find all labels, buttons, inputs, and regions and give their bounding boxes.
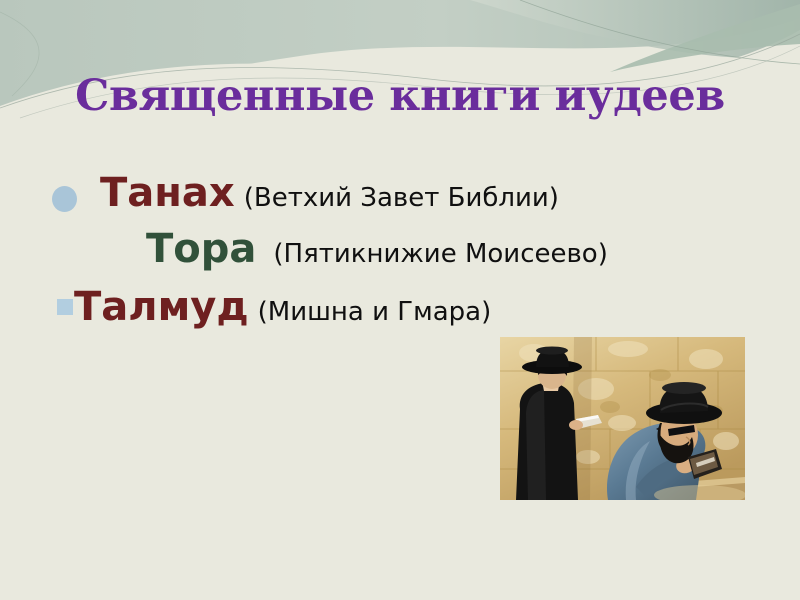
swoosh-hairline-3 [520, 0, 800, 64]
bullet-keyword-talmud: Талмуд [74, 284, 249, 330]
bullet-item-torah: Тора(Пятикнижие Моисеево) [0, 226, 800, 284]
western-wall-photo [500, 337, 745, 500]
bullet-note-torah: (Пятикнижие Моисеево) [273, 239, 607, 269]
bullet-item-tanakh: Танах(Ветхий Завет Библии) [0, 170, 800, 226]
slide-title: Священные книги иудеев [0, 74, 800, 120]
bullet-keyword-tanakh: Танах [100, 170, 235, 216]
presentation-slide: Священные книги иудеев Танах(Ветхий Заве… [0, 0, 800, 600]
swoosh-band-secondary [470, 0, 800, 59]
swoosh-tail-right [610, 4, 800, 72]
bullet-note-tanakh: (Ветхий Завет Библии) [244, 183, 559, 213]
square-bullet-icon [57, 299, 73, 315]
circle-bullet-icon [52, 186, 77, 212]
bullet-keyword-torah: Тора [146, 226, 256, 272]
slide-body: Танах(Ветхий Завет Библии) Тора(Пятикниж… [0, 170, 800, 340]
bullet-note-talmud: (Мишна и Гмара) [258, 297, 492, 327]
bullet-item-talmud: Талмуд(Мишна и Гмара) [0, 284, 800, 340]
